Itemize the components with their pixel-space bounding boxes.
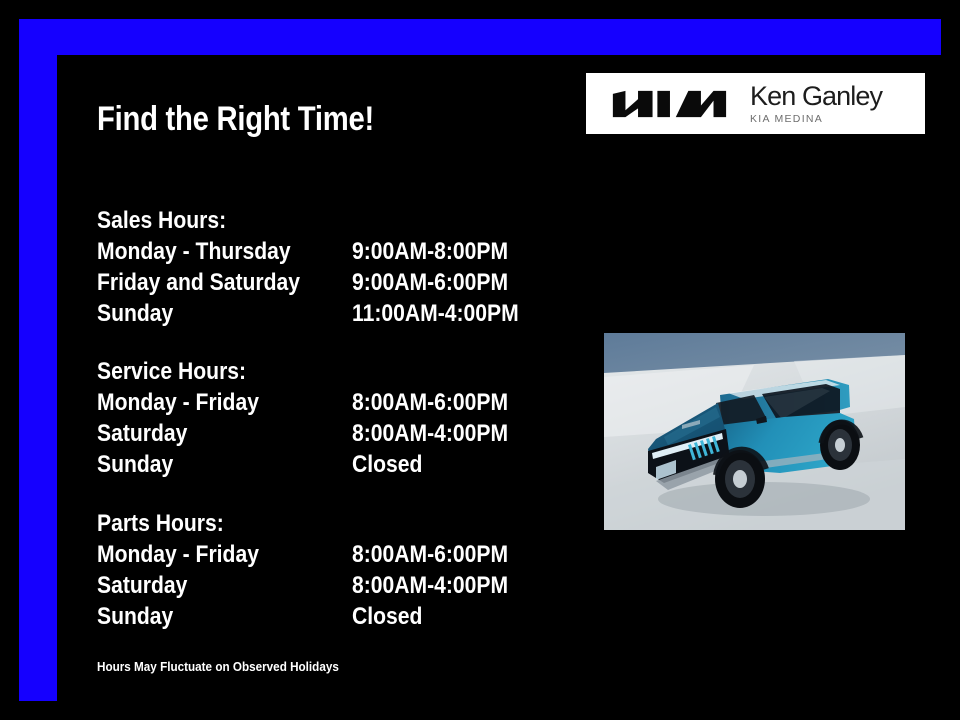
hours-row: Saturday 8:00AM-4:00PM: [97, 570, 617, 601]
hours-row-time: 8:00AM-4:00PM: [352, 570, 508, 601]
hours-block-heading: Sales Hours:: [97, 205, 555, 236]
hours-block-heading: Parts Hours:: [97, 508, 555, 539]
hours-row-day: Monday - Thursday: [97, 236, 291, 267]
hours-row: Sunday Closed: [97, 449, 617, 480]
hours-block-service: Service Hours: Monday - Friday 8:00AM-6:…: [97, 356, 617, 480]
dealer-name-group: Ken Ganley KIA MEDINA: [750, 83, 882, 125]
kia-logo-mark: [610, 89, 728, 119]
dealer-subtitle: KIA MEDINA: [750, 114, 882, 125]
dealer-logo-card: Ken Ganley KIA MEDINA: [586, 73, 925, 134]
hours-row-day: Sunday: [97, 298, 173, 329]
hours-row: Monday - Friday 8:00AM-6:00PM: [97, 539, 617, 570]
hours-row-time: 8:00AM-4:00PM: [352, 418, 508, 449]
hours-row: Sunday 11:00AM-4:00PM: [97, 298, 617, 329]
slide-content-panel: Find the Right Time! Sales Hours: Monday…: [57, 55, 941, 703]
hours-row-day: Monday - Friday: [97, 539, 259, 570]
hours-block-sales: Sales Hours: Monday - Thursday 9:00AM-8:…: [97, 205, 617, 329]
hours-row: Sunday Closed: [97, 601, 617, 632]
hours-row: Saturday 8:00AM-4:00PM: [97, 418, 617, 449]
hours-block-parts: Parts Hours: Monday - Friday 8:00AM-6:00…: [97, 508, 617, 632]
hours-row: Monday - Thursday 9:00AM-8:00PM: [97, 236, 617, 267]
hours-row-time: 8:00AM-6:00PM: [352, 539, 508, 570]
hours-row-day: Sunday: [97, 601, 173, 632]
page-title: Find the Right Time!: [97, 100, 374, 139]
hours-row-time: 8:00AM-6:00PM: [352, 387, 508, 418]
hours-row-time: 9:00AM-6:00PM: [352, 267, 508, 298]
blue-border-frame: Find the Right Time! Sales Hours: Monday…: [19, 19, 941, 701]
hours-row-day: Monday - Friday: [97, 387, 259, 418]
hours-block-heading: Service Hours:: [97, 356, 555, 387]
slide-canvas: Find the Right Time! Sales Hours: Monday…: [0, 0, 960, 720]
dealer-name: Ken Ganley: [750, 83, 882, 110]
hours-row-day: Friday and Saturday: [97, 267, 300, 298]
disclaimer-text: Hours May Fluctuate on Observed Holidays: [97, 659, 339, 674]
hours-row-time: 9:00AM-8:00PM: [352, 236, 508, 267]
hours-row-time: Closed: [352, 449, 422, 480]
hours-row-day: Saturday: [97, 570, 187, 601]
hours-row: Friday and Saturday 9:00AM-6:00PM: [97, 267, 617, 298]
vehicle-photo: [604, 333, 905, 530]
hours-row-day: Saturday: [97, 418, 187, 449]
hours-row: Monday - Friday 8:00AM-6:00PM: [97, 387, 617, 418]
hours-row-day: Sunday: [97, 449, 173, 480]
hours-row-time: 11:00AM-4:00PM: [352, 298, 519, 329]
hours-row-time: Closed: [352, 601, 422, 632]
